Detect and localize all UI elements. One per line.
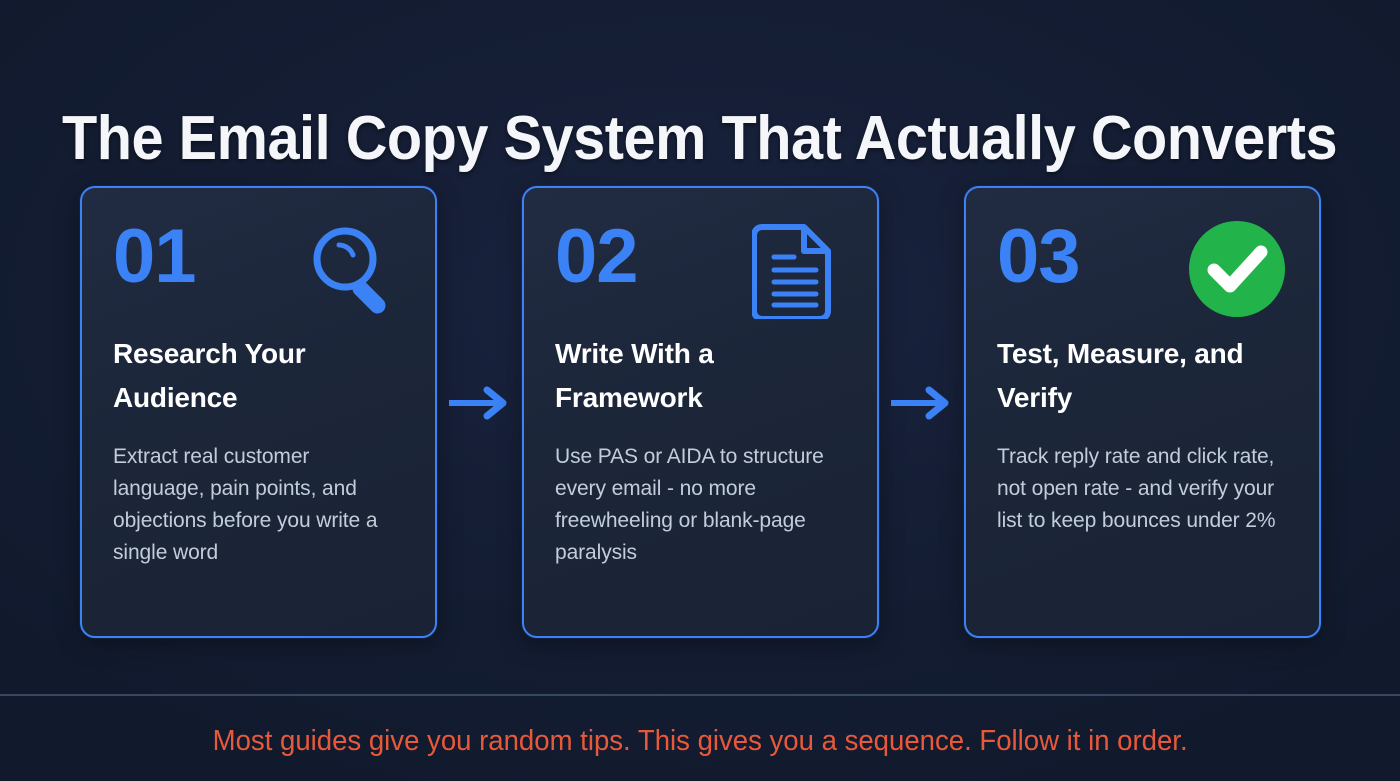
step-body-02: Use PAS or AIDA to structure every email… [555,441,846,569]
step-number-03: 03 [997,214,1080,300]
arrow-right-icon [891,386,953,420]
step-number-01: 01 [113,214,196,300]
step-body-01: Extract real customer language, pain poi… [113,441,404,569]
arrow-right-icon [449,386,511,420]
green-check-circle-icon [1186,218,1288,320]
connector-2 [879,186,964,638]
step-card-01[interactable]: 01 Research Your Audience Extract real c… [80,186,437,638]
infographic-root: The Email Copy System That Actually Conv… [0,0,1400,781]
document-lines-icon [744,218,846,320]
steps-row: 01 Research Your Audience Extract real c… [80,186,1321,638]
step-title-01: Research Your Audience [113,332,404,420]
footer-divider [0,694,1400,696]
step-title-03: Test, Measure, and Verify [997,332,1288,420]
step-card-01-header: 01 [113,216,404,332]
step-number-02: 02 [555,214,638,300]
footer-text: Most guides give you random tips. This g… [213,722,1188,760]
magnifier-icon [302,218,404,320]
page-title: The Email Copy System That Actually Conv… [62,104,1337,174]
step-card-03[interactable]: 03 Test, Measure, and Verify Track reply… [964,186,1321,638]
step-card-02[interactable]: 02 Write With a Framework Use PAS or AID… [522,186,879,638]
step-body-03: Track reply rate and click rate, not ope… [997,441,1288,537]
step-card-03-header: 03 [997,216,1288,332]
step-card-02-header: 02 [555,216,846,332]
connector-1 [437,186,522,638]
footer-container: Most guides give you random tips. This g… [0,722,1400,760]
step-title-02: Write With a Framework [555,332,846,420]
